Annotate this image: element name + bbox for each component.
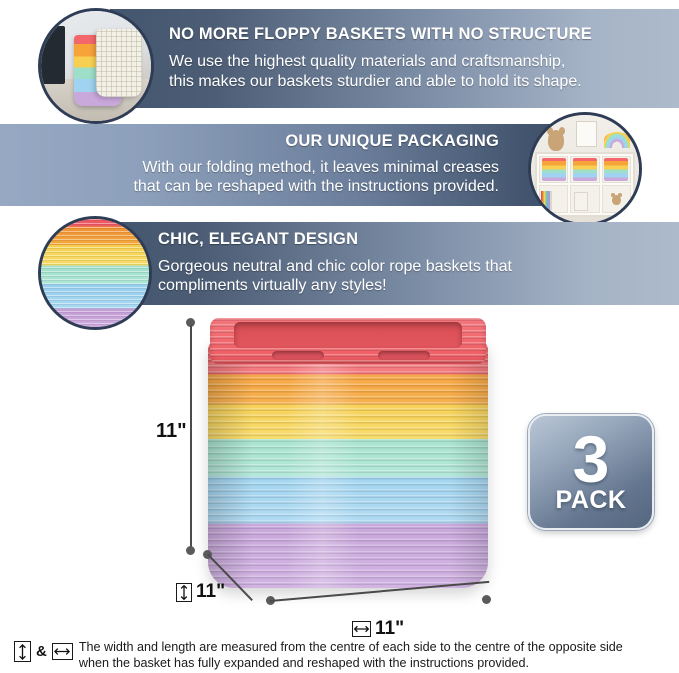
feature-body-2-line1: With our folding method, it leaves minim… [14,158,499,178]
dim-dot-width-right [482,595,491,604]
photo2-rainbow-bin [604,158,628,181]
footnote-text: The width and length are measured from t… [79,640,623,671]
product-basket-illustration [208,318,488,588]
photo2-cube-shelf [535,152,634,217]
feature-photo-nursery-shelf [528,112,642,226]
photo2-shelf-cell [602,156,631,183]
three-pack-badge: 3 PACK [528,414,654,530]
infographic-canvas: NO MORE FLOPPY BASKETS WITH NO STRUCTURE… [0,0,679,673]
footnote-icons: & [14,640,73,662]
basket-handle-right [378,351,430,360]
photo1-furniture [41,26,65,83]
vertical-arrow-icon [176,583,192,602]
feature-banner-unique-packaging: OUR UNIQUE PACKAGING With our folding me… [0,124,565,206]
feature-body-1-line1: We use the highest quality materials and… [169,52,665,72]
feature-body-3-line1: Gorgeous neutral and chic color rope bas… [158,257,665,277]
photo2-rainbow-bin [542,158,566,181]
photo2-shelf-cell [570,156,599,183]
photo2-shelf-cell [602,185,631,212]
photo2-shelf-cell [539,156,568,183]
basket-body [208,340,488,588]
photo2-books [574,192,588,212]
basket-rim [210,318,486,364]
photo-scene-3 [41,219,149,327]
feature-photo-basket-with-blanket [38,8,154,124]
dim-label-depth: 11" [176,581,225,603]
photo2-wall-art [576,121,596,147]
photo-scene-2 [531,115,639,223]
badge-label: PACK [556,488,627,513]
basket-right-shading [449,340,488,588]
feature-title-3: CHIC, ELEGANT DESIGN [158,231,665,248]
photo2-shelf-cell [570,185,599,212]
basket-left-shading [208,340,253,588]
badge-count: 3 [573,431,610,488]
basket-opening [234,322,462,348]
feature-banner-no-floppy-baskets: NO MORE FLOPPY BASKETS WITH NO STRUCTURE… [110,9,679,108]
footnote-line-2: when the basket has fully expanded and r… [79,656,623,672]
vertical-arrow-icon [14,641,31,662]
footnote-line-1: The width and length are measured from t… [79,640,623,656]
photo2-rainbow-decor [604,132,630,148]
photo2-toy-blocks [541,191,552,211]
dim-dot-height-bottom [186,546,195,555]
dim-label-height: 11" [156,420,187,443]
feature-body-1-line2: this makes our baskets sturdier and able… [169,72,665,92]
photo2-shelf-cell [539,185,568,212]
dim-label-width: 11" [352,618,404,640]
photo2-small-bear [612,195,621,205]
photo2-rainbow-bin [573,158,597,181]
photo2-teddy-bear [548,130,564,151]
horizontal-arrow-icon [352,621,371,637]
feature-body-2-line2: that can be reshaped with the instructio… [14,177,499,197]
basket-handle-left [272,351,324,360]
basket-highlight [286,340,359,588]
feature-title-1: NO MORE FLOPPY BASKETS WITH NO STRUCTURE [169,26,665,43]
horizontal-arrow-icon [52,643,73,660]
footnote-ampersand: & [36,643,47,660]
measurement-footnote: & The width and length are measured from… [14,640,669,671]
photo3-rope-grooves [41,219,149,327]
photo1-waffle-blanket [96,29,142,97]
feature-banner-chic-elegant-design: CHIC, ELEGANT DESIGN Gorgeous neutral an… [108,222,679,305]
feature-body-3-line2: compliments virtually any styles! [158,276,665,296]
feature-title-2: OUR UNIQUE PACKAGING [14,133,499,150]
photo-scene-1 [41,11,151,121]
dim-line-height [190,325,192,550]
feature-photo-rope-texture [38,216,152,330]
